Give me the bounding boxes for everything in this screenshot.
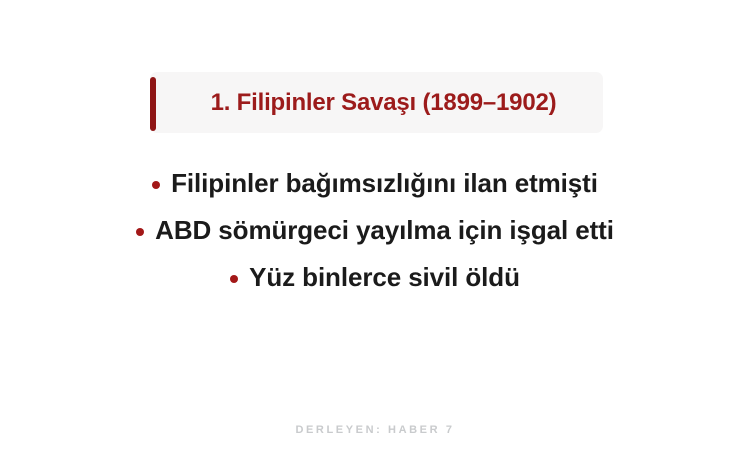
list-item: Yüz binlerce sivil öldü — [230, 254, 520, 301]
bullet-list: Filipinler bağımsızlığını ilan etmişti A… — [0, 160, 750, 301]
footer-credit: DERLEYEN: HABER 7 — [0, 424, 750, 436]
slide-canvas: 1. Filipinler Savaşı (1899–1902) Filipin… — [0, 0, 750, 461]
bullet-label: ABD sömürgeci yayılma için işgal etti — [155, 216, 614, 245]
title-block: 1. Filipinler Savaşı (1899–1902) — [150, 72, 603, 133]
bullet-dot-icon — [136, 228, 144, 236]
bullet-dot-icon — [152, 181, 160, 189]
list-item: Filipinler bağımsızlığını ilan etmişti — [152, 160, 598, 207]
bullet-label: Yüz binlerce sivil öldü — [249, 263, 520, 292]
slide-title: 1. Filipinler Savaşı (1899–1902) — [150, 72, 603, 133]
bullet-dot-icon — [230, 275, 238, 283]
list-item: ABD sömürgeci yayılma için işgal etti — [136, 207, 614, 254]
bullet-label: Filipinler bağımsızlığını ilan etmişti — [171, 169, 598, 198]
